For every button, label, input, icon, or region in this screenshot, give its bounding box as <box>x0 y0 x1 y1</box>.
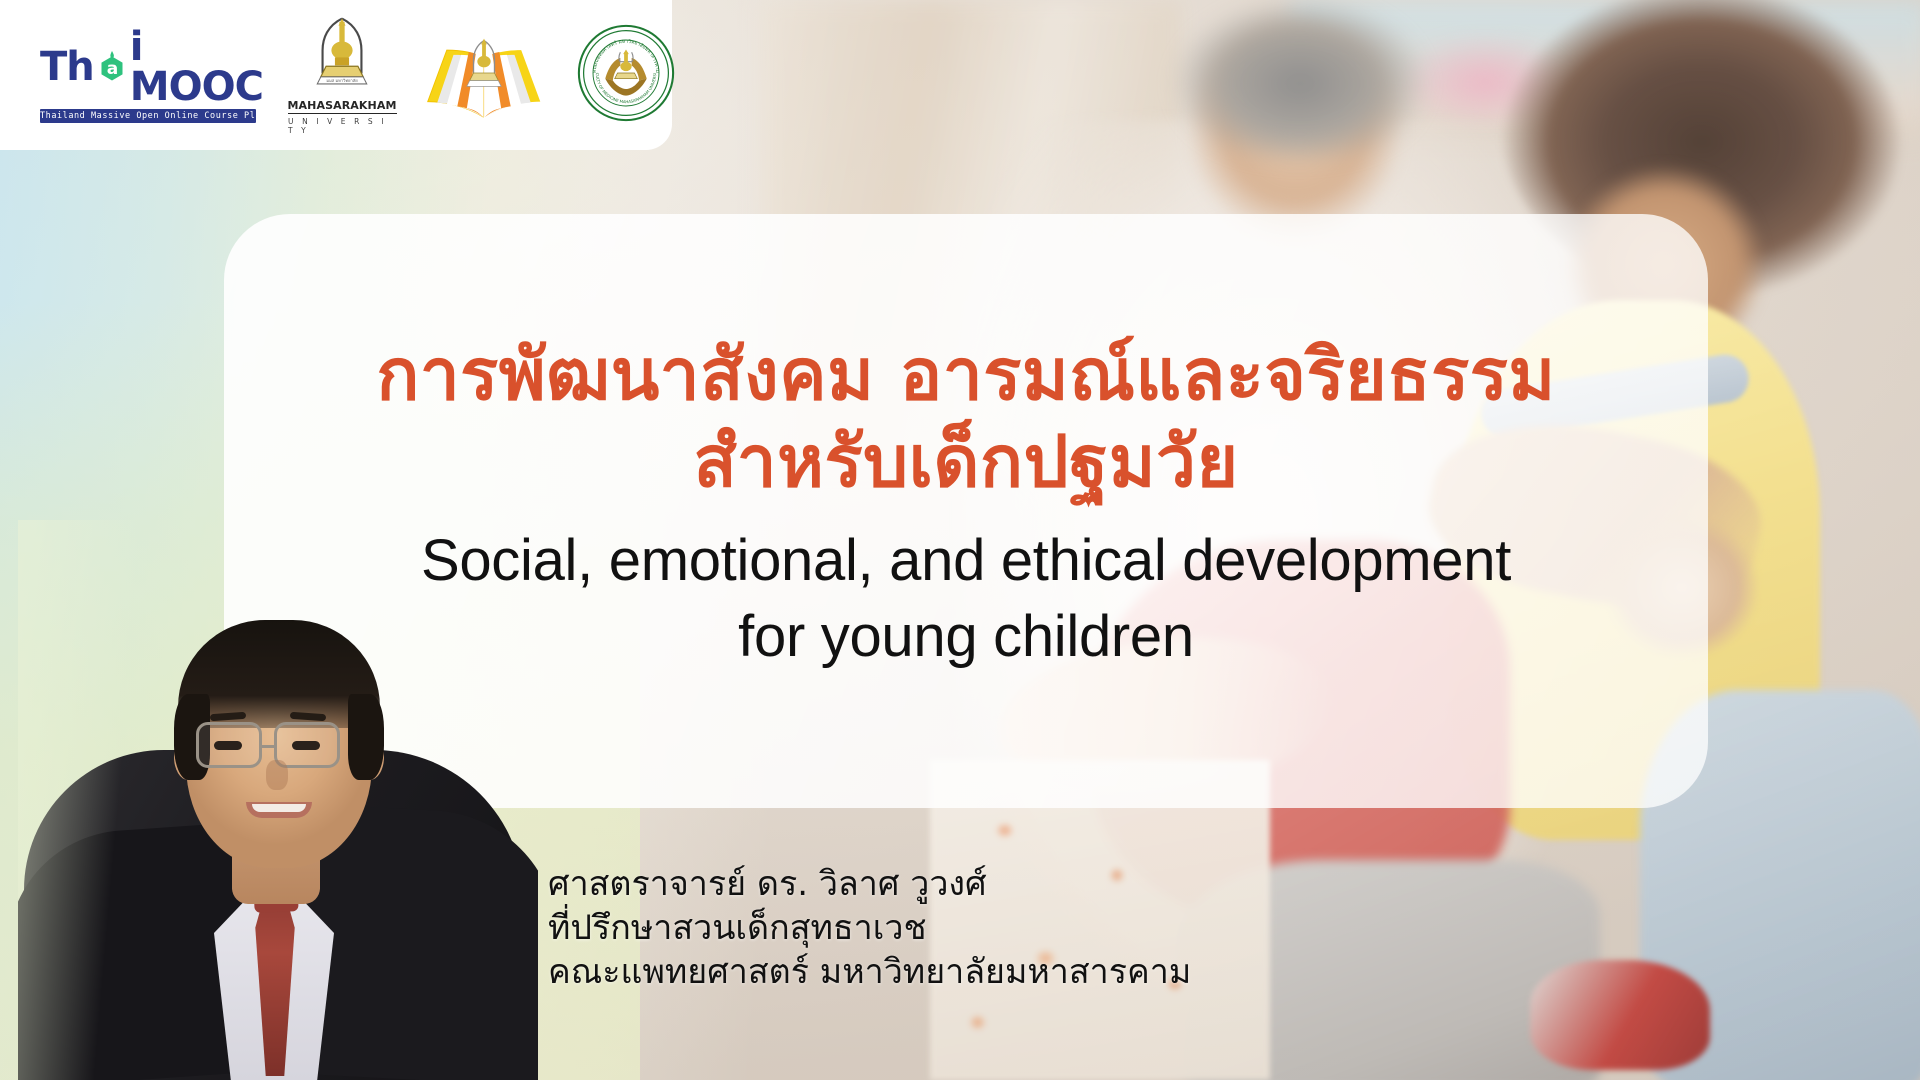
faculty-seal-icon: คณะแพทยศาสตร์ มหาวิทยาลัยมหาสารคาม FACUL… <box>577 24 675 127</box>
faculty-of-medicine-seal-logo: คณะแพทยศาสตร์ มหาวิทยาลัยมหาสารคาม FACUL… <box>572 24 680 127</box>
presenter-affiliation: คณะแพทยศาสตร์ มหาวิทยาลัยมหาสารคาม <box>548 950 1191 994</box>
title-slide: Th a i MOOC Thailand Massive Open Online… <box>0 0 1920 1080</box>
presenter-portrait <box>18 520 538 1080</box>
msu-name-line1: MAHASARAKHAM <box>288 99 397 114</box>
open-book-lamp-logo <box>422 25 546 126</box>
thai-mooc-word-before: Th <box>40 47 94 87</box>
title-thai-line-1: การพัฒนาสังคม อารมณ์และจริยธรรม <box>376 332 1555 419</box>
svg-text:a: a <box>107 59 118 79</box>
mahasarakham-university-logo: มมส มหาวิทยาลัย MAHASARAKHAM U N I V E R… <box>288 15 396 135</box>
title-thai-line-2: สำหรับเด็กปฐมวัย <box>693 419 1238 506</box>
title-english-line-1: Social, emotional, and ethical developme… <box>421 523 1511 598</box>
svg-text:มมส มหาวิทยาลัย: มมส มหาวิทยาลัย <box>326 78 358 83</box>
thai-mooc-word-after: i MOOC <box>130 27 263 107</box>
presenter-credentials: ศาสตราจารย์ ดร. วิลาศ วูวงศ์ ที่ปรึกษาสว… <box>548 862 1191 995</box>
logo-badge: Th a i MOOC Thailand Massive Open Online… <box>0 0 672 150</box>
title-english-line-2: for young children <box>421 599 1511 674</box>
presenter-role: ที่ปรึกษาสวนเด็กสุทธาเวช <box>548 906 1191 950</box>
title-english: Social, emotional, and ethical developme… <box>421 523 1511 674</box>
thai-mooc-wordmark: Th a i MOOC <box>40 27 263 107</box>
open-book-icon <box>422 25 546 126</box>
leaf-icon: a <box>95 50 129 84</box>
thai-mooc-tagline: Thailand Massive Open Online Course Plat… <box>40 109 256 124</box>
msu-mark-icon: มมส มหาวิทยาลัย <box>301 15 383 96</box>
presenter-name: ศาสตราจารย์ ดร. วิลาศ วูวงศ์ <box>548 862 1191 906</box>
presenter-edge-fade <box>18 520 538 1080</box>
msu-name-line2: U N I V E R S I T Y <box>288 117 396 135</box>
thai-mooc-logo: Th a i MOOC Thailand Massive Open Online… <box>40 27 262 124</box>
